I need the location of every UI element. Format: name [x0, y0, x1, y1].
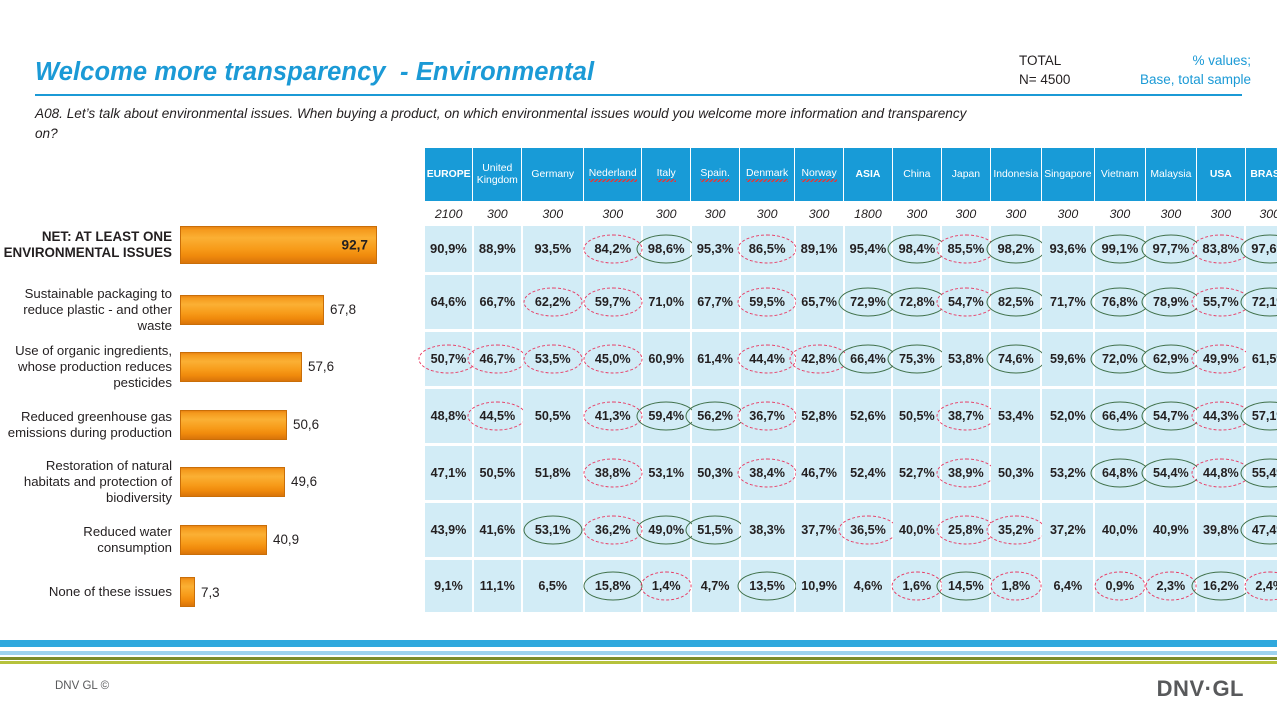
cell-value: 66,7% [474, 293, 520, 311]
data-cell: 42,8% [795, 330, 844, 387]
data-cell: 52,6% [844, 387, 893, 444]
cell-value: 59,5% [744, 293, 790, 311]
cell-value: 4,7% [696, 577, 735, 595]
bar-value: 40,9 [273, 532, 299, 547]
base-size-cell: 300 [1094, 201, 1145, 226]
cell-value: 47,4% [1247, 521, 1277, 539]
base-size-cell: 300 [584, 201, 642, 226]
base-size-cell: 300 [522, 201, 584, 226]
data-cell: 46,7% [795, 444, 844, 501]
data-cell: 44,8% [1196, 444, 1245, 501]
bar-track: 40,9 [180, 511, 299, 568]
bar-label: Restoration of natural habitats and prot… [0, 458, 180, 506]
cell-value: 42,8% [796, 350, 842, 368]
cell-value: 84,2% [589, 239, 636, 258]
cell-value: 90,9% [425, 239, 472, 258]
cell-value: 36,7% [744, 407, 790, 425]
base-size-cell: 300 [1245, 201, 1277, 226]
data-cell: 86,5% [740, 226, 795, 273]
cell-value: 59,7% [590, 293, 636, 311]
cell-value: 95,4% [845, 239, 892, 258]
data-cell: 61,4% [691, 330, 740, 387]
total-label: TOTAL [1019, 51, 1070, 70]
base-size-cell: 300 [1145, 201, 1196, 226]
cell-value: 74,6% [993, 350, 1039, 368]
bar-row: None of these issues7,3 [0, 569, 220, 615]
data-cell: 50,5% [473, 444, 522, 501]
data-cell: 11,1% [473, 558, 522, 613]
footer-stripe-lightblue [0, 651, 1277, 655]
bar [180, 525, 267, 555]
data-cell: 85,5% [941, 226, 990, 273]
data-cell: 54,7% [941, 273, 990, 330]
data-cell: 56,2% [691, 387, 740, 444]
cell-value: 98,2% [992, 239, 1039, 258]
cell-value: 25,8% [943, 521, 989, 539]
data-cell: 16,2% [1196, 558, 1245, 613]
cell-value: 93,6% [1044, 239, 1091, 258]
cell-value: 36,2% [590, 521, 636, 539]
cell-value: 15,8% [590, 577, 636, 595]
cell-value: 67,7% [692, 293, 738, 311]
cell-value: 57,1% [1247, 407, 1277, 425]
data-cell: 4,6% [844, 558, 893, 613]
base-size-cell: 300 [990, 201, 1041, 226]
data-cell: 35,2% [990, 501, 1041, 558]
cell-value: 72,0% [1097, 350, 1143, 368]
cell-value: 39,8% [1198, 521, 1244, 539]
data-cell: 44,3% [1196, 387, 1245, 444]
cell-value: 38,4% [744, 464, 790, 482]
base-size-cell: 300 [1041, 201, 1094, 226]
cell-value: 6,5% [533, 577, 572, 595]
data-cell: 37,2% [1041, 501, 1094, 558]
cell-value: 4,6% [849, 577, 888, 595]
cell-value: 2,3% [1152, 577, 1191, 595]
cell-value: 76,8% [1097, 293, 1143, 311]
cell-value: 35,2% [993, 521, 1039, 539]
data-cell: 44,4% [740, 330, 795, 387]
cell-value: 88,9% [474, 239, 521, 258]
data-cell: 40,0% [892, 501, 941, 558]
data-cell: 14,5% [941, 558, 990, 613]
cell-value: 85,5% [942, 239, 989, 258]
data-cell: 40,0% [1094, 501, 1145, 558]
column-header-spain: Spain. [691, 148, 740, 201]
data-cell: 37,7% [795, 501, 844, 558]
cell-value: 14,5% [943, 577, 989, 595]
cell-value: 38,8% [590, 464, 636, 482]
cell-value: 61,4% [692, 350, 738, 368]
column-header-japan: Japan [941, 148, 990, 201]
cell-value: 50,5% [894, 407, 940, 425]
bar-label: None of these issues [0, 584, 180, 600]
data-cell: 46,7% [473, 330, 522, 387]
bar-label: Reduced greenhouse gas emissions during … [0, 409, 180, 441]
data-cell: 51,8% [522, 444, 584, 501]
data-cell: 47,1% [425, 444, 473, 501]
base-size-cell: 300 [941, 201, 990, 226]
data-cell: 97,7% [1145, 226, 1196, 273]
column-header-norway: Norway [795, 148, 844, 201]
cell-value: 53,1% [643, 464, 689, 482]
data-cell: 41,3% [584, 387, 642, 444]
column-header-china: China [892, 148, 941, 201]
spellcheck-underline: Norway [801, 168, 836, 182]
spellcheck-underline: Spain. [700, 168, 729, 182]
data-cell: 57,1% [1245, 387, 1277, 444]
data-cell: 66,4% [844, 330, 893, 387]
base-size-cell: 2100 [425, 201, 473, 226]
cell-value: 54,7% [943, 293, 989, 311]
cell-value: 62,9% [1148, 350, 1194, 368]
cell-value: 72,9% [845, 293, 891, 311]
cell-value: 11,1% [475, 577, 520, 595]
total-meta: TOTAL N= 4500 [1019, 51, 1070, 89]
cell-value: 38,9% [943, 464, 989, 482]
cell-value: 6,4% [1049, 577, 1088, 595]
base-size-cell: 300 [892, 201, 941, 226]
cell-value: 53,4% [993, 407, 1039, 425]
cell-value: 78,9% [1148, 293, 1194, 311]
spellcheck-underline: Nederland [589, 168, 637, 182]
data-cell: 50,3% [990, 444, 1041, 501]
bar-row: Use of organic ingredients, whose produc… [0, 338, 334, 395]
bar-row: Restoration of natural habitats and prot… [0, 453, 317, 510]
bar-row: Reduced water consumption40,9 [0, 511, 299, 568]
base-note: Base, total sample [1140, 70, 1251, 89]
data-cell: 38,7% [941, 387, 990, 444]
table-row: 47,1%50,5%51,8%38,8%53,1%50,3%38,4%46,7%… [425, 444, 1277, 501]
data-cell: 83,8% [1196, 226, 1245, 273]
cell-value: 13,5% [744, 577, 790, 595]
footer-stripe-green [0, 661, 1277, 664]
cell-value: 52,0% [1045, 407, 1091, 425]
base-size-cell: 1800 [844, 201, 893, 226]
data-cell: 47,4% [1245, 501, 1277, 558]
data-cell: 13,5% [740, 558, 795, 613]
data-cell: 10,9% [795, 558, 844, 613]
cell-value: 51,5% [692, 521, 738, 539]
column-header-singapore: Singapore [1041, 148, 1094, 201]
bar-row: Sustainable packaging to reduce plastic … [0, 281, 356, 338]
cell-value: 37,7% [796, 521, 842, 539]
column-header-europe: EUROPE [425, 148, 473, 201]
data-cell: 53,8% [941, 330, 990, 387]
base-size-row: 2100300300300300300300300180030030030030… [425, 201, 1277, 226]
cell-value: 46,7% [474, 350, 520, 368]
data-cell: 72,1% [1245, 273, 1277, 330]
cell-value: 98,6% [643, 239, 690, 258]
data-cell: 50,5% [522, 387, 584, 444]
base-size-cell: 300 [1196, 201, 1245, 226]
bar [180, 577, 195, 607]
data-cell: 95,4% [844, 226, 893, 273]
cell-value: 86,5% [744, 239, 791, 258]
slide-canvas: Welcome more transparency - Environmenta… [0, 0, 1277, 717]
bar-chart: NET: AT LEAST ONE ENVIRONMENTAL ISSUES92… [0, 0, 425, 717]
cell-value: 72,8% [894, 293, 940, 311]
data-cell: 49,0% [642, 501, 691, 558]
cell-value: 37,2% [1045, 521, 1091, 539]
data-cell: 71,0% [642, 273, 691, 330]
cell-value: 83,8% [1197, 239, 1244, 258]
cell-value: 66,4% [845, 350, 891, 368]
cell-value: 71,7% [1045, 293, 1091, 311]
cell-value: 71,0% [643, 293, 689, 311]
data-cell: 52,8% [795, 387, 844, 444]
bar-track: 57,6 [180, 338, 334, 395]
column-header-united-kingdom: United Kingdom [473, 148, 522, 201]
data-cell: 41,6% [473, 501, 522, 558]
base-size-cell: 300 [691, 201, 740, 226]
cell-value: 60,9% [643, 350, 689, 368]
data-cell: 66,4% [1094, 387, 1145, 444]
cell-value: 38,3% [744, 521, 790, 539]
column-header-italy: Italy [642, 148, 691, 201]
cell-value: 1,8% [997, 577, 1036, 595]
bar-label: Use of organic ingredients, whose produc… [0, 343, 180, 391]
bar [180, 295, 324, 325]
data-cell: 1,6% [892, 558, 941, 613]
data-cell: 50,5% [892, 387, 941, 444]
cell-value: 40,0% [894, 521, 940, 539]
values-note: % values; [1140, 51, 1251, 70]
bar-track: 7,3 [180, 569, 220, 615]
base-size-cell: 300 [740, 201, 795, 226]
cell-value: 62,2% [530, 293, 576, 311]
cell-value: 16,2% [1198, 577, 1244, 595]
bar-value: 7,3 [201, 585, 220, 600]
cell-value: 98,4% [893, 239, 940, 258]
data-cell: 75,3% [892, 330, 941, 387]
cell-value: 50,3% [993, 464, 1039, 482]
cell-value: 89,1% [796, 239, 843, 258]
data-cell: 89,1% [795, 226, 844, 273]
cell-value: 99,1% [1096, 239, 1143, 258]
cell-value: 52,4% [845, 464, 891, 482]
cell-value: 61,5% [1247, 350, 1277, 368]
data-cell: 48,8% [425, 387, 473, 444]
bar-value: 50,6 [293, 417, 319, 432]
data-cell: 78,9% [1145, 273, 1196, 330]
data-cell: 64,6% [425, 273, 473, 330]
cell-value: 38,7% [943, 407, 989, 425]
data-cell: 72,9% [844, 273, 893, 330]
cell-value: 44,4% [744, 350, 790, 368]
cell-value: 59,6% [1045, 350, 1091, 368]
data-cell: 51,5% [691, 501, 740, 558]
cell-value: 49,0% [643, 521, 689, 539]
data-cell: 38,9% [941, 444, 990, 501]
cell-value: 41,6% [474, 521, 520, 539]
column-header-germany: Germany [522, 148, 584, 201]
column-header-vietnam: Vietnam [1094, 148, 1145, 201]
data-cell: 0,9% [1094, 558, 1145, 613]
data-cell: 88,9% [473, 226, 522, 273]
data-cell: 4,7% [691, 558, 740, 613]
column-header-malaysia: Malaysia [1145, 148, 1196, 201]
data-cell: 6,5% [522, 558, 584, 613]
data-cell: 50,7% [425, 330, 473, 387]
cell-value: 10,9% [796, 577, 842, 595]
table-body: 2100300300300300300300300180030030030030… [425, 201, 1277, 613]
cell-value: 40,9% [1148, 521, 1194, 539]
cell-value: 55,7% [1198, 293, 1244, 311]
data-cell: 54,7% [1145, 387, 1196, 444]
data-cell: 50,3% [691, 444, 740, 501]
data-cell: 97,6% [1245, 226, 1277, 273]
table-row: 50,7%46,7%53,5%45,0%60,9%61,4%44,4%42,8%… [425, 330, 1277, 387]
column-header-nederland: Nederland [584, 148, 642, 201]
data-cell: 55,7% [1196, 273, 1245, 330]
bar-value: 49,6 [291, 474, 317, 489]
data-cell: 6,4% [1041, 558, 1094, 613]
cell-value: 52,8% [796, 407, 842, 425]
spellcheck-underline: Italy [657, 168, 676, 182]
cell-value: 54,4% [1148, 464, 1194, 482]
bar-label: Reduced water consumption [0, 524, 180, 556]
data-cell: 36,5% [844, 501, 893, 558]
bar-row: Reduced greenhouse gas emissions during … [0, 396, 319, 453]
footer-stripe-blue [0, 640, 1277, 647]
cell-value: 51,8% [530, 464, 576, 482]
data-cell: 52,4% [844, 444, 893, 501]
country-breakdown-table: EUROPEUnited KingdomGermanyNederlandItal… [425, 148, 1277, 615]
data-cell: 67,7% [691, 273, 740, 330]
cell-value: 41,3% [590, 407, 636, 425]
bar [180, 467, 285, 497]
data-cell: 2,4% [1245, 558, 1277, 613]
dnv-gl-logo: DNV·GL [1157, 676, 1244, 702]
cell-value: 47,1% [426, 464, 472, 482]
data-cell: 25,8% [941, 501, 990, 558]
data-cell: 40,9% [1145, 501, 1196, 558]
data-cell: 71,7% [1041, 273, 1094, 330]
bar-track: 92,7 [180, 222, 377, 268]
cell-value: 53,8% [943, 350, 989, 368]
spellcheck-underline: Denmark [746, 168, 788, 182]
cell-value: 53,2% [1045, 464, 1091, 482]
bar-track: 49,6 [180, 453, 317, 510]
cell-value: 65,7% [796, 293, 842, 311]
base-meta: % values; Base, total sample [1140, 51, 1251, 89]
table-row: 48,8%44,5%50,5%41,3%59,4%56,2%36,7%52,8%… [425, 387, 1277, 444]
data-cell: 82,5% [990, 273, 1041, 330]
cell-value: 50,7% [426, 350, 472, 368]
data-cell: 52,7% [892, 444, 941, 501]
bar [180, 352, 302, 382]
column-header-asia: ASIA [844, 148, 893, 201]
cell-value: 82,5% [993, 293, 1039, 311]
cell-value: 46,7% [796, 464, 842, 482]
data-cell: 43,9% [425, 501, 473, 558]
bar-track: 67,8 [180, 281, 356, 338]
table-header: EUROPEUnited KingdomGermanyNederlandItal… [425, 148, 1277, 201]
cell-value: 43,9% [426, 521, 472, 539]
base-size-cell: 300 [642, 201, 691, 226]
n-label: N= 4500 [1019, 70, 1070, 89]
table-row: 64,6%66,7%62,2%59,7%71,0%67,7%59,5%65,7%… [425, 273, 1277, 330]
data-cell: 52,0% [1041, 387, 1094, 444]
cell-value: 1,4% [647, 577, 686, 595]
cell-value: 59,4% [643, 407, 689, 425]
copyright-text: DNV GL © [55, 680, 109, 692]
cell-value: 93,5% [529, 239, 576, 258]
table-row: 90,9%88,9%93,5%84,2%98,6%95,3%86,5%89,1%… [425, 226, 1277, 273]
column-header-usa: USA [1196, 148, 1245, 201]
data-cell: 74,6% [990, 330, 1041, 387]
cell-value: 64,6% [426, 293, 472, 311]
data-cell: 54,4% [1145, 444, 1196, 501]
cell-value: 2,4% [1250, 577, 1277, 595]
data-cell: 95,3% [691, 226, 740, 273]
cell-value: 44,8% [1198, 464, 1244, 482]
cell-value: 0,9% [1101, 577, 1140, 595]
data-cell: 36,7% [740, 387, 795, 444]
cell-value: 1,6% [898, 577, 937, 595]
cell-value: 72,1% [1247, 293, 1277, 311]
cell-value: 45,0% [590, 350, 636, 368]
bar-value: 92,7 [342, 238, 368, 253]
data-cell: 53,2% [1041, 444, 1094, 501]
cell-value: 56,2% [692, 407, 738, 425]
data-cell: 62,9% [1145, 330, 1196, 387]
cell-value: 95,3% [692, 239, 739, 258]
data-cell: 93,6% [1041, 226, 1094, 273]
data-cell: 39,8% [1196, 501, 1245, 558]
cell-value: 64,8% [1097, 464, 1143, 482]
bar [180, 410, 287, 440]
data-cell: 90,9% [425, 226, 473, 273]
cell-value: 53,5% [530, 350, 576, 368]
data-cell: 53,1% [522, 501, 584, 558]
data-cell: 38,3% [740, 501, 795, 558]
data-cell: 98,2% [990, 226, 1041, 273]
bar-track: 50,6 [180, 396, 319, 453]
data-cell: 53,4% [990, 387, 1041, 444]
cell-value: 44,3% [1198, 407, 1244, 425]
table-row: 43,9%41,6%53,1%36,2%49,0%51,5%38,3%37,7%… [425, 501, 1277, 558]
data-cell: 84,2% [584, 226, 642, 273]
data-cell: 61,5% [1245, 330, 1277, 387]
cell-value: 66,4% [1097, 407, 1143, 425]
column-header-brasil: BRASIL [1245, 148, 1277, 201]
bar: 92,7 [180, 226, 377, 264]
data-cell: 72,8% [892, 273, 941, 330]
data-cell: 49,9% [1196, 330, 1245, 387]
data-cell: 45,0% [584, 330, 642, 387]
bar-label: NET: AT LEAST ONE ENVIRONMENTAL ISSUES [0, 229, 180, 261]
data-cell: 59,6% [1041, 330, 1094, 387]
data-cell: 72,0% [1094, 330, 1145, 387]
data-cell: 38,4% [740, 444, 795, 501]
data-cell: 15,8% [584, 558, 642, 613]
cell-value: 97,6% [1246, 239, 1277, 258]
cell-value: 50,3% [692, 464, 738, 482]
data-cell: 36,2% [584, 501, 642, 558]
bar-value: 57,6 [308, 359, 334, 374]
data-cell: 60,9% [642, 330, 691, 387]
base-size-cell: 300 [473, 201, 522, 226]
data-cell: 53,1% [642, 444, 691, 501]
data-cell: 9,1% [425, 558, 473, 613]
cell-value: 55,4% [1247, 464, 1277, 482]
data-cell: 93,5% [522, 226, 584, 273]
cell-value: 50,5% [530, 407, 576, 425]
cell-value: 97,7% [1147, 239, 1194, 258]
column-header-denmark: Denmark [740, 148, 795, 201]
